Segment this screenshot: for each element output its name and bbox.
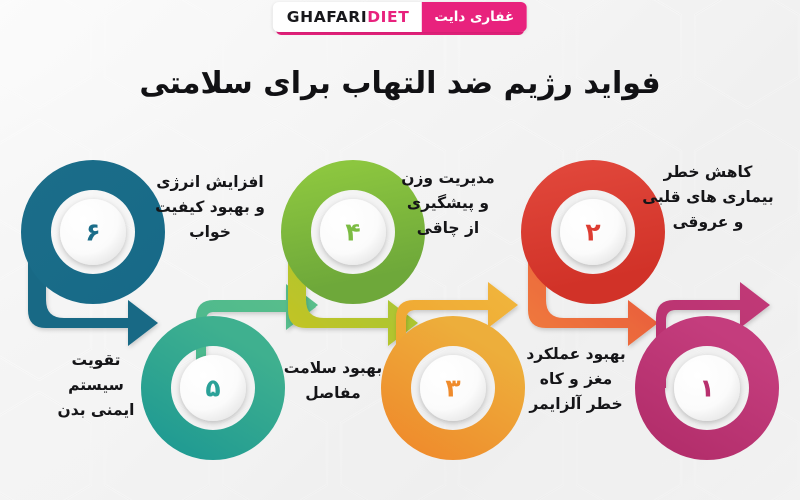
- brand-logo[interactable]: غفاری دایت GHAFARIDIET: [273, 2, 527, 32]
- step-4-label: مدیریت وزن و پیشگیری از چاقی: [374, 166, 522, 241]
- step-3-label: بهبود سلامت مفاصل: [262, 356, 404, 406]
- brand-logo-ghafari: GHAFARI: [287, 8, 367, 26]
- step-1-shape[interactable]: ۱: [650, 282, 770, 445]
- step-5-number: ۵: [205, 374, 220, 403]
- brand-logo-persian: غفاری دایت: [421, 2, 527, 32]
- step-2-label: کاهش خطر بیماری های قلبی و عروقی: [624, 160, 792, 235]
- page-title: فواید رژیم ضد التهاب برای سلامتی: [0, 66, 800, 101]
- step-6-label: افزایش انرژی و بهبود کیفیت خواب: [126, 170, 294, 245]
- step-6-number: ۶: [85, 218, 100, 247]
- step-3-number: ۳: [445, 374, 460, 403]
- step-2-number: ۲: [585, 218, 600, 247]
- step-1-label: بهبود عملکرد مغز و کاه خطر آلزایمر: [492, 342, 660, 417]
- step-4-number: ۴: [345, 218, 360, 247]
- brand-logo-english: GHAFARIDIET: [273, 2, 422, 32]
- step-1-number: ۱: [699, 374, 714, 403]
- step-5-label: تقویت سیستم ایمنی بدن: [26, 348, 166, 423]
- brand-logo-diet: DIET: [367, 8, 409, 26]
- infographic-canvas: غفاری دایت GHAFARIDIET فواید رژیم ضد الت…: [0, 0, 800, 500]
